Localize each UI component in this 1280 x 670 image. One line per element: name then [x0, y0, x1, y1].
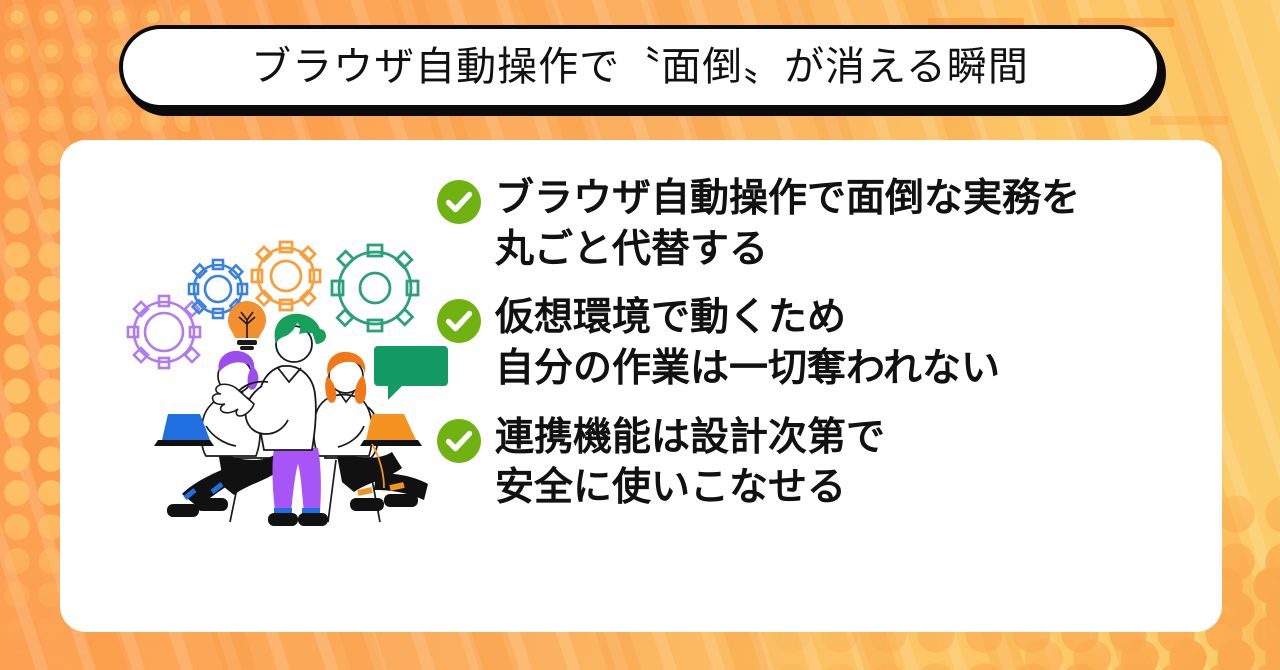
decor-dash-3 [1150, 116, 1228, 125]
gear-orange [252, 242, 320, 310]
page-title: ブラウザ自動操作で〝面倒〟が消える瞬間 [251, 47, 1029, 87]
list-item-line2: 自分の作業は一切奪われない [495, 344, 1000, 395]
list-item: ブラウザ自動操作で面倒な実務を 丸ごと代替する [435, 174, 1195, 275]
check-circle-icon [435, 417, 483, 465]
list-item-line1: 連携機能は設計次第で [495, 416, 885, 459]
benefit-list: ブラウザ自動操作で面倒な実務を 丸ごと代替する 仮想環境で動くため 自分の作業は… [435, 174, 1195, 514]
title-pill: ブラウザ自動操作で〝面倒〟が消える瞬間 [119, 25, 1161, 109]
gear-purple [128, 296, 200, 368]
team-collaboration-gears-illustration [122, 236, 452, 536]
gear-teal [332, 245, 418, 331]
check-circle-icon [435, 297, 483, 345]
list-item-line1: ブラウザ自動操作で面倒な実務を [495, 177, 1080, 220]
list-item-line2: 丸ごと代替する [495, 225, 1080, 276]
content-card: ブラウザ自動操作で面倒な実務を 丸ごと代替する 仮想環境で動くため 自分の作業は… [60, 140, 1222, 632]
list-item: 仮想環境で動くため 自分の作業は一切奪われない [435, 293, 1195, 394]
lightbulb-icon [228, 301, 266, 350]
list-item: 連携機能は設計次第で 安全に使いこなせる [435, 413, 1195, 514]
slide-canvas: ブラウザ自動操作で〝面倒〟が消える瞬間 [0, 0, 1280, 670]
check-circle-icon [435, 178, 483, 226]
list-item-text: 連携機能は設計次第で 安全に使いこなせる [495, 413, 885, 514]
list-item-text: ブラウザ自動操作で面倒な実務を 丸ごと代替する [495, 174, 1080, 275]
list-item-text: 仮想環境で動くため 自分の作業は一切奪われない [495, 293, 1000, 394]
list-item-line2: 安全に使いこなせる [495, 463, 885, 514]
list-item-line1: 仮想環境で動くため [495, 296, 846, 339]
